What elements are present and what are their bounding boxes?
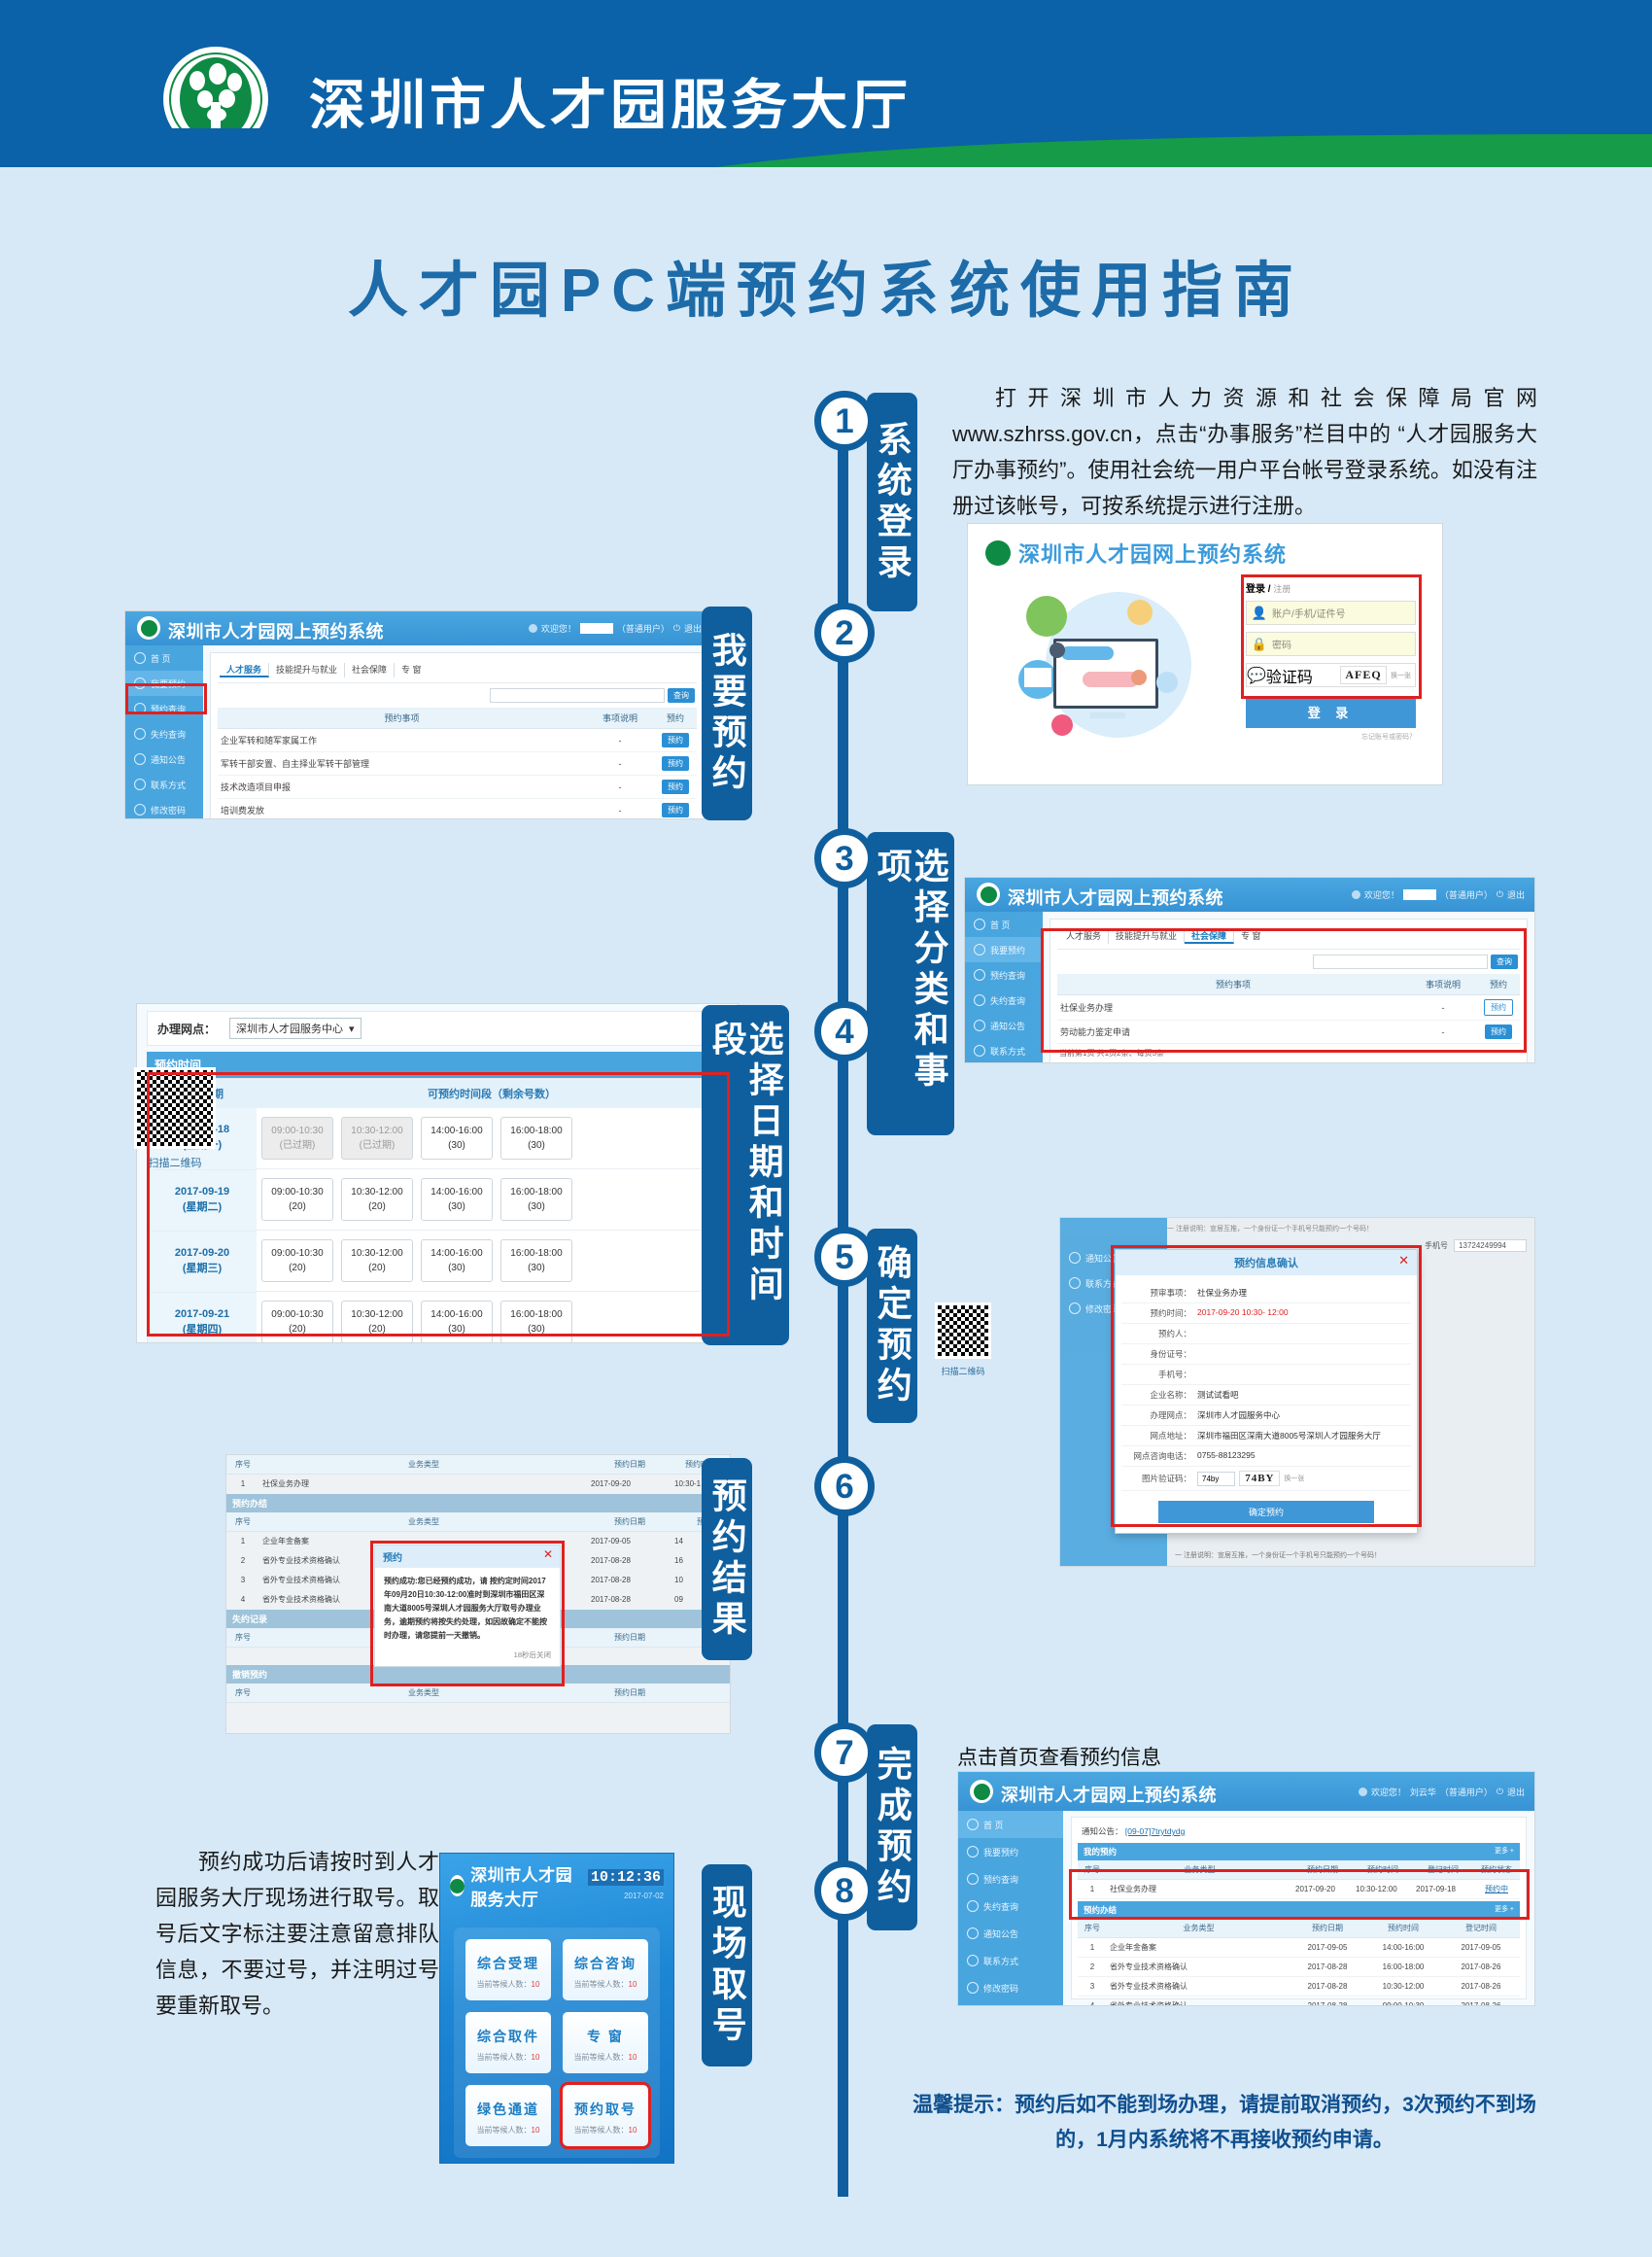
pager: 当前第1页 共1页2条、每页5条 bbox=[1057, 1044, 1520, 1062]
user-icon bbox=[529, 624, 537, 633]
field-label: 身份证号： bbox=[1121, 1348, 1197, 1360]
step7-content: 通知公告： [09-07]7trytdydg 我的预约 更多 + 序号业务类型预… bbox=[1063, 1811, 1534, 2005]
step7-caption: 点击首页查看预约信息 bbox=[957, 1742, 1161, 1771]
col-date: 预约日期 bbox=[588, 1684, 671, 1703]
dialog-field: 手机号： bbox=[1121, 1365, 1411, 1385]
login-captcha-image[interactable]: AFEQ bbox=[1340, 666, 1387, 684]
step-label-6: 预约结果 bbox=[702, 1458, 752, 1660]
row-desc: - bbox=[586, 799, 654, 820]
col-reg: 登记时间 bbox=[1413, 1860, 1473, 1880]
close-icon[interactable]: ✕ bbox=[543, 1547, 553, 1561]
step-node-3: 3 bbox=[814, 828, 875, 888]
bell-icon bbox=[974, 1020, 985, 1031]
dialog-field: 办理网点：深圳市人才园服务中心 bbox=[1121, 1406, 1411, 1426]
search-row: 查询 bbox=[1057, 950, 1520, 974]
qr-code bbox=[935, 1302, 991, 1359]
welcome-text: 欢迎您！ bbox=[1371, 1786, 1406, 1798]
timeslot-row: 2017-09-18(星期一) 09:00-10:30(已过期) 10:30-1… bbox=[148, 1108, 727, 1169]
bell-icon bbox=[1069, 1252, 1081, 1264]
notice-row: 通知公告： [09-07]7trytdydg bbox=[1078, 1823, 1520, 1843]
more-link[interactable]: 更多 + bbox=[1495, 1846, 1514, 1858]
sidebar-item-my-booking[interactable]: 我要预约 bbox=[125, 671, 203, 696]
step6-tables: 序号业务类型预约日期预约时间 1社保业务办理2017-09-2010:30-1 bbox=[226, 1455, 730, 1494]
timeslot-table: 预约日期 可预约时间段（剩余号数） 2017-09-18(星期一) 09:00-… bbox=[148, 1079, 727, 1343]
phone-icon bbox=[134, 779, 146, 790]
field-label: 企业名称： bbox=[1121, 1389, 1197, 1401]
sidebar-item-booking-query[interactable]: 预约查询 bbox=[965, 962, 1043, 988]
timeslot-row: 2017-09-21(星期四) 09:00-10:30(20) 10:30-12… bbox=[148, 1292, 727, 1343]
row-desc: - bbox=[586, 776, 654, 799]
col-status: 预约状态 bbox=[1473, 1860, 1520, 1880]
col-index: 序号 bbox=[226, 1455, 259, 1475]
home-icon bbox=[967, 1819, 979, 1830]
step-label-2: 我要预约 bbox=[702, 607, 752, 820]
table-row: 社保业务办理-预约 bbox=[1057, 995, 1520, 1021]
qr-caption: 扫描二维码 bbox=[929, 1365, 997, 1377]
bottom-warning-tip: 温馨提示：预约后如不能到场办理，请提前取消预约，3次预约不到场的，1月内系统将不… bbox=[904, 2088, 1545, 2157]
tab-social-security[interactable]: 社会保障 bbox=[345, 663, 395, 677]
shield-icon: 💬 bbox=[1247, 666, 1266, 685]
captcha-refresh[interactable]: 换一张 bbox=[1280, 1474, 1304, 1483]
bottom-left-text: 预约成功后请按时到人才园服务大厅现场进行取号。取号后文字标注要注意留意排队信息，… bbox=[155, 1845, 439, 2025]
kiosk-date: 2017-07-02 bbox=[624, 1892, 664, 1900]
system-logo bbox=[970, 1780, 993, 1803]
kiosk-cell-comprehensive-pickup[interactable]: 综合取件 当前等候人数：10 bbox=[465, 2012, 551, 2073]
lock-icon bbox=[1069, 1302, 1081, 1314]
booking-items-table: 预约事项 事项说明 预约 企业军转和随军家属工作-预约 军转干部安置、自主择业军… bbox=[218, 708, 697, 819]
user-role: （普通用户） bbox=[1440, 1786, 1493, 1798]
cell-wait: 当前等候人数：10 bbox=[469, 2052, 547, 2063]
slot-button[interactable]: 16:00-18:00(30) bbox=[500, 1117, 572, 1160]
sidebar-item-contact[interactable]: 联系方式 bbox=[125, 772, 203, 797]
timeslot-section-title: 预约时间 bbox=[147, 1052, 728, 1078]
col-index: 序号 bbox=[226, 1512, 259, 1532]
row-desc: - bbox=[1409, 995, 1477, 1021]
status-badge[interactable]: 预约中 bbox=[1473, 1880, 1520, 1899]
popup-title-bar: 预约 ✕ bbox=[375, 1545, 560, 1568]
sidebar-item-booking-query[interactable]: 预约查询 bbox=[125, 696, 203, 721]
login-captcha-row[interactable]: 💬 验证码 AFEQ 换一张 bbox=[1246, 663, 1416, 687]
sidebar-label: 失约查询 bbox=[990, 994, 1025, 1007]
slot-button: 10:30-12:00(已过期) bbox=[341, 1117, 413, 1160]
system-site-title: 深圳市人才园网上预约系统 bbox=[1008, 885, 1223, 910]
close-icon[interactable]: ✕ bbox=[1398, 1253, 1409, 1268]
book-button[interactable]: 预约 bbox=[662, 803, 689, 817]
step-label-1: 系统登录 bbox=[867, 393, 917, 611]
col-date: 预约日期 bbox=[1291, 1919, 1364, 1938]
col-time: 预约时间 bbox=[1364, 1919, 1442, 1938]
system-sidebar: 首 页 我要预约 预约查询 失约查询 通知公告 联系方式 修改密码 bbox=[125, 645, 203, 818]
notice-link[interactable]: [09-07]7trytdydg bbox=[1125, 1826, 1185, 1836]
sidebar-label: 我要预约 bbox=[990, 944, 1025, 956]
sidebar-item-home[interactable]: 首 页 bbox=[958, 1811, 1063, 1838]
kiosk-cell-green-channel[interactable]: 绿色通道 当前等候人数：10 bbox=[465, 2085, 551, 2146]
cell-wait: 当前等候人数：10 bbox=[567, 2125, 644, 2135]
step3-screenshot: 深圳市人才园网上预约系统 欢迎您！ （普通用户） ⏻ 退出 首 页 我要预约 预… bbox=[964, 877, 1535, 1063]
sidebar-item-home[interactable]: 首 页 bbox=[965, 912, 1043, 937]
cell-title: 专 窗 bbox=[567, 2027, 644, 2046]
dialog-field: 预审事项：社保业务办理 bbox=[1121, 1283, 1411, 1303]
book-button[interactable]: 预约 bbox=[1485, 1024, 1512, 1039]
tab-talent-service[interactable]: 人才服务 bbox=[1059, 929, 1109, 944]
step5-screenshot: 通知公告 联系方式 修改密码 一 注册说明：宣居互推，一个身份证一个手机号只能预… bbox=[1059, 1217, 1535, 1567]
tab-talent-service[interactable]: 人才服务 bbox=[220, 663, 269, 677]
home-icon bbox=[974, 919, 985, 930]
sidebar-item-missed-query[interactable]: 失约查询 bbox=[125, 721, 203, 747]
category-tabs: 人才服务 技能提升与就业 社会保障 专 窗 bbox=[1057, 926, 1520, 950]
my-booking-table: 序号业务类型预约日期预约时间登记时间预约状态 1社保业务办理2017-09-20… bbox=[1078, 1860, 1520, 1899]
system-sidebar: 首 页 我要预约 预约查询 失约查询 通知公告 联系方式 bbox=[965, 912, 1043, 1062]
row-item: 军转干部安置、自主择业军转干部管理 bbox=[218, 752, 586, 776]
login-tab-register[interactable]: 注册 bbox=[1273, 584, 1291, 594]
booking-items-table: 预约事项 事项说明 预约 社保业务办理-预约 劳动能力鉴定申请-预约 bbox=[1057, 974, 1520, 1044]
timeline-spine bbox=[838, 418, 848, 2197]
sidebar-item-notice[interactable]: 通知公告 bbox=[958, 1920, 1063, 1947]
row-item: 企业军转和随军家属工作 bbox=[218, 729, 586, 752]
col-type: 业务类型 bbox=[259, 1684, 588, 1703]
login-illustration bbox=[985, 578, 1219, 763]
slot-button[interactable]: 16:00-18:00(30) bbox=[500, 1239, 572, 1282]
sidebar-item-change-password[interactable]: 修改密码 bbox=[958, 1974, 1063, 2001]
kiosk-service-grid: 综合受理 当前等候人数：10 综合咨询 当前等候人数：10 综合取件 当前等候人… bbox=[454, 1927, 660, 2158]
user-name: 刘云华 bbox=[1410, 1786, 1436, 1798]
finished-header: 预约办结 更多 + bbox=[1078, 1901, 1520, 1919]
power-icon: ⏻ bbox=[673, 623, 680, 634]
field-label: 手机号： bbox=[1121, 1369, 1197, 1380]
login-tab-login[interactable]: 登录 / bbox=[1246, 584, 1271, 595]
sidebar-label: 修改密码 bbox=[151, 804, 186, 816]
table-row: 军转干部安置、自主择业军转干部管理-预约 bbox=[218, 752, 697, 776]
tab-skills-employment[interactable]: 技能提升与就业 bbox=[1109, 929, 1185, 944]
chevron-down-icon: ▾ bbox=[349, 1023, 355, 1035]
col-index: 序号 bbox=[1078, 1860, 1107, 1880]
bell-icon bbox=[967, 1927, 979, 1939]
book-button[interactable]: 预约 bbox=[662, 780, 689, 794]
welcome-text: 欢迎您！ bbox=[541, 622, 576, 635]
sidebar-item-notice[interactable]: 通知公告 bbox=[965, 1013, 1043, 1038]
dialog-title-bar: 预约信息确认 ✕ bbox=[1116, 1250, 1417, 1275]
sidebar-item-notice[interactable]: 通知公告 bbox=[125, 747, 203, 772]
sidebar-label: 联系方式 bbox=[151, 779, 186, 791]
timeslot-row: 2017-09-20(星期三) 09:00-10:30(20) 10:30-12… bbox=[148, 1231, 727, 1292]
site-select[interactable]: 深圳市人才园服务中心 ▾ bbox=[229, 1018, 361, 1039]
search-row: 查询 bbox=[218, 683, 697, 708]
login-captcha-refresh[interactable]: 换一张 bbox=[1387, 671, 1415, 680]
dialog-field: 企业名称：测试试看吧 bbox=[1121, 1385, 1411, 1406]
slot-button: 09:00-10:30(已过期) bbox=[261, 1117, 333, 1160]
notice-label: 通知公告： bbox=[1082, 1826, 1123, 1836]
login-form: 登录 / 注册 👤 账户/手机/证件号 🔒 密码 💬 验证码 AFEQ 换一张 … bbox=[1246, 580, 1416, 742]
row-date: 2017-09-21(星期四) bbox=[148, 1292, 257, 1343]
col-index: 序号 bbox=[1078, 1919, 1107, 1938]
kiosk-time: 10:12:36 bbox=[588, 1869, 664, 1886]
user-icon: 👤 bbox=[1247, 606, 1272, 621]
slot-button[interactable]: 09:00-10:30(20) bbox=[261, 1239, 333, 1282]
cancel-icon bbox=[967, 1900, 979, 1912]
cell-title: 综合受理 bbox=[469, 1954, 547, 1973]
site-selector-row: 办理网点： 深圳市人才园服务中心 ▾ bbox=[147, 1011, 728, 1046]
book-button[interactable]: 预约 bbox=[662, 733, 689, 747]
power-icon: ⏻ bbox=[1497, 1787, 1503, 1797]
slot-button[interactable]: 09:00-10:30(20) bbox=[261, 1301, 333, 1343]
system-logo bbox=[137, 616, 160, 640]
login-password-placeholder: 密码 bbox=[1272, 637, 1291, 651]
field-value: 0755-88123295 bbox=[1197, 1450, 1256, 1462]
site-value: 深圳市人才园服务中心 bbox=[236, 1021, 343, 1036]
search-input[interactable] bbox=[1313, 955, 1488, 969]
user-icon bbox=[1359, 1788, 1367, 1796]
search-input[interactable] bbox=[490, 688, 665, 703]
login-submit-button[interactable]: 登 录 bbox=[1246, 696, 1416, 728]
search-button[interactable]: 查询 bbox=[1491, 955, 1518, 969]
table-row: 1企业年金备案2017-09-0514:00-16:002017-09-05 bbox=[1078, 1938, 1520, 1958]
sidebar-item-missed-query[interactable]: 失约查询 bbox=[965, 988, 1043, 1013]
search-icon bbox=[967, 1873, 979, 1885]
search-icon bbox=[974, 969, 985, 981]
field-label: 网点地址： bbox=[1121, 1430, 1197, 1441]
confirm-booking-button[interactable]: 确定预约 bbox=[1158, 1501, 1374, 1523]
step-node-1: 1 bbox=[814, 391, 875, 451]
dialog-field: 网点地址：深圳市福田区深南大道8005号深圳人才园服务大厅 bbox=[1121, 1426, 1411, 1446]
col-type: 业务类型 bbox=[259, 1455, 588, 1475]
slot-button[interactable]: 16:00-18:00(30) bbox=[500, 1301, 572, 1343]
tab-social-security[interactable]: 社会保障 bbox=[1185, 929, 1234, 944]
page-header: 深圳市人才园服务大厅 bbox=[0, 0, 1652, 167]
section-title: 撤销预约 bbox=[226, 1665, 730, 1684]
col-index: 序号 bbox=[226, 1684, 259, 1703]
field-value: 深圳市福田区深南大道8005号深圳人才园服务大厅 bbox=[1197, 1430, 1381, 1441]
user-name-field bbox=[580, 623, 613, 634]
row-date: 2017-09-19(星期二) bbox=[148, 1169, 257, 1231]
col-index: 序号 bbox=[226, 1628, 259, 1648]
step-node-8: 8 bbox=[814, 1860, 875, 1921]
system-topbar: 深圳市人才园网上预约系统 欢迎您！ 刘云华 （普通用户） ⏻ 退出 bbox=[958, 1772, 1534, 1811]
login-account-placeholder: 账户/手机/证件号 bbox=[1272, 606, 1346, 620]
col-type: 业务类型 bbox=[259, 1512, 588, 1532]
system-topbar: 深圳市人才园网上预约系统 欢迎您！ （普通用户） ⏻ 退出 bbox=[125, 611, 711, 645]
kiosk-header: 深圳市人才园服务大厅 10:12:36 2017-07-02 bbox=[440, 1854, 673, 1912]
step5-footer-note: 一 注册说明：宣居互推，一个身份证一个手机号只能预约一个号码！ bbox=[1060, 1550, 1534, 1560]
kiosk-clock: 10:12:36 2017-07-02 bbox=[588, 1868, 664, 1903]
more-link[interactable]: 更多 + bbox=[1495, 1904, 1514, 1916]
slot-button[interactable]: 14:00-16:00(30) bbox=[421, 1239, 493, 1282]
sidebar-label: 失约查询 bbox=[983, 1900, 1018, 1913]
step-label-4: 选择日期和时间段 bbox=[702, 1005, 789, 1345]
header-green-wave bbox=[0, 128, 1652, 167]
popup-title: 预约 bbox=[383, 1553, 402, 1564]
system-logo bbox=[977, 883, 1000, 906]
dialog-captcha-row: 图片验证码： 74by 74BY 换一张 bbox=[1121, 1467, 1411, 1491]
phone-icon bbox=[974, 1045, 985, 1057]
bell-icon bbox=[134, 753, 146, 765]
field-label: 预约时间： bbox=[1121, 1307, 1197, 1319]
kiosk-cell-special-window[interactable]: 专 窗 当前等候人数：10 bbox=[563, 2012, 648, 2073]
col-desc: 事项说明 bbox=[586, 708, 654, 729]
col-reg: 登记时间 bbox=[1442, 1919, 1520, 1938]
sidebar-item-missed-query[interactable]: 失约查询 bbox=[958, 1892, 1063, 1920]
lock-icon bbox=[967, 1982, 979, 1994]
slot-button[interactable]: 14:00-16:00(30) bbox=[421, 1117, 493, 1160]
kiosk-cell-comprehensive-acceptance[interactable]: 综合受理 当前等候人数：10 bbox=[465, 1939, 551, 2000]
sidebar-label: 首 页 bbox=[983, 1819, 1004, 1831]
sidebar-label: 失约查询 bbox=[151, 728, 186, 741]
cell-wait: 当前等候人数：10 bbox=[567, 1979, 644, 1990]
popup-timer: 18秒后关闭 bbox=[375, 1649, 560, 1666]
field-value: 2017-09-20 10:30- 12:00 bbox=[1197, 1307, 1289, 1319]
sidebar-item-change-password[interactable]: 修改密码 bbox=[125, 797, 203, 819]
field-value: 社保业务办理 bbox=[1197, 1287, 1247, 1299]
row-slots: 09:00-10:30(20) 10:30-12:00(20) 14:00-16… bbox=[257, 1292, 727, 1343]
success-popup: 预约 ✕ 预约成功:您已经预约成功，请 按约定时间2017年09月20日10:3… bbox=[374, 1545, 561, 1667]
lock-icon: 🔒 bbox=[1247, 637, 1272, 652]
hall-logo bbox=[450, 1875, 465, 1896]
hall-title: 深圳市人才园服务大厅 bbox=[470, 1861, 588, 1910]
kiosk-screenshot: 深圳市人才园服务大厅 10:12:36 2017-07-02 综合受理 当前等候… bbox=[439, 1853, 674, 2164]
col-date: 预约日期 bbox=[588, 1512, 671, 1532]
field-label: 办理网点： bbox=[1121, 1409, 1197, 1421]
table-row: 4省外专业技术资格确认2017-08-2809:00-10:302017-08-… bbox=[1078, 1997, 1520, 2007]
pager-text: 当前第1页 共1页2条、每页5条 bbox=[1059, 1048, 1164, 1059]
book-button[interactable]: 预约 bbox=[1484, 999, 1513, 1016]
step1-description: 打开深圳市人力资源和社会保障局官网www.szhrss.gov.cn，点击“办事… bbox=[952, 381, 1537, 525]
sidebar-item-contact[interactable]: 联系方式 bbox=[965, 1038, 1043, 1063]
row-date: 2017-09-20(星期三) bbox=[148, 1231, 257, 1292]
cancel-icon bbox=[134, 728, 146, 740]
slot-button[interactable]: 10:30-12:00(20) bbox=[341, 1239, 413, 1282]
qr-caption: 扫描二维码 bbox=[134, 1155, 216, 1170]
sidebar-item-my-booking[interactable]: 我要预约 bbox=[965, 937, 1043, 962]
tab-special-window[interactable]: 专 窗 bbox=[395, 663, 429, 677]
system-user-area: 欢迎您！ 刘云华 （普通用户） ⏻ 退出 bbox=[1359, 1786, 1525, 1798]
row-desc: - bbox=[1409, 1021, 1477, 1044]
book-button[interactable]: 预约 bbox=[662, 756, 689, 771]
system-sidebar: 首 页 我要预约 预约查询 失约查询 通知公告 联系方式 修改密码 bbox=[958, 1811, 1063, 2005]
dialog-field: 预约人： bbox=[1121, 1324, 1411, 1344]
power-icon: ⏻ bbox=[1497, 889, 1503, 900]
login-account-field[interactable]: 👤 账户/手机/证件号 bbox=[1246, 601, 1416, 625]
system-site-title: 深圳市人才园网上预约系统 bbox=[168, 618, 384, 643]
login-forgot-link[interactable]: 忘记账号或密码？ bbox=[1246, 732, 1416, 742]
user-icon bbox=[1352, 890, 1360, 899]
kiosk-cell-comprehensive-consult[interactable]: 综合咨询 当前等候人数：10 bbox=[563, 1939, 648, 2000]
captcha-input[interactable]: 74by bbox=[1197, 1472, 1235, 1486]
sidebar-item-booking-query[interactable]: 预约查询 bbox=[958, 1865, 1063, 1892]
popup-message: 预约成功:您已经预约成功，请 按约定时间2017年09月20日10:30-12:… bbox=[375, 1568, 560, 1649]
logout-link[interactable]: 退出 bbox=[1507, 888, 1525, 901]
search-icon bbox=[134, 703, 146, 714]
row-slots: 09:00-10:30(20) 10:30-12:00(20) 14:00-16… bbox=[257, 1169, 727, 1231]
captcha-image[interactable]: 74BY bbox=[1239, 1471, 1280, 1486]
tab-special-window[interactable]: 专 窗 bbox=[1234, 929, 1268, 944]
login-screenshot: 深圳市人才园网上预约系统 登录 / 注册 👤 账户/手机/证件号 🔒 密码 💬 bbox=[967, 523, 1443, 785]
sidebar-label: 我要预约 bbox=[151, 677, 186, 690]
login-site-title: 深圳市人才园网上预约系统 bbox=[1018, 538, 1287, 569]
col-date: 预约日期 bbox=[588, 1455, 671, 1475]
slot-button[interactable]: 10:30-12:00(20) bbox=[341, 1301, 413, 1343]
table-row: 1社保业务办理2017-09-2010:30-12:002017-09-18预约… bbox=[1078, 1880, 1520, 1899]
home-icon bbox=[134, 652, 146, 664]
col-time: 预约时间 bbox=[1353, 1860, 1413, 1880]
logout-link[interactable]: 退出 bbox=[684, 622, 702, 635]
sidebar-label: 联系方式 bbox=[983, 1955, 1018, 1967]
slot-button[interactable]: 09:00-10:30(20) bbox=[261, 1178, 333, 1221]
category-tabs: 人才服务 技能提升与就业 社会保障 专 窗 bbox=[218, 660, 697, 683]
system-topbar: 深圳市人才园网上预约系统 欢迎您！ （普通用户） ⏻ 退出 bbox=[965, 878, 1534, 912]
cell-title: 预约取号 bbox=[567, 2100, 644, 2119]
cell-wait: 当前等候人数：10 bbox=[469, 2125, 547, 2135]
tab-skills-employment[interactable]: 技能提升与就业 bbox=[269, 663, 345, 677]
col-type: 业务类型 bbox=[1107, 1919, 1291, 1938]
search-button[interactable]: 查询 bbox=[668, 688, 695, 703]
dialog-title: 预约信息确认 bbox=[1234, 1258, 1298, 1269]
clock-icon bbox=[974, 944, 985, 955]
sidebar-label: 联系方式 bbox=[990, 1045, 1025, 1058]
sidebar-label: 首 页 bbox=[151, 652, 171, 665]
slot-button[interactable]: 14:00-16:00(30) bbox=[421, 1178, 493, 1221]
sidebar-item-contact[interactable]: 联系方式 bbox=[958, 1947, 1063, 1974]
step-node-6: 6 bbox=[814, 1456, 875, 1516]
kiosk-cell-booking-ticket[interactable]: 预约取号 当前等候人数：10 bbox=[563, 2085, 648, 2146]
step-label-8: 现场取号 bbox=[702, 1864, 752, 2066]
clock-icon bbox=[967, 1846, 979, 1858]
phone-label: 手机号 bbox=[1425, 1240, 1448, 1251]
step5-bg-note: 一 注册说明：宣居互推，一个身份证一个手机号只能预约一个号码！ bbox=[1167, 1224, 1529, 1233]
confirm-dialog: 预约信息确认 ✕ 预审事项：社保业务办理 预约时间：2017-09-20 10:… bbox=[1115, 1249, 1418, 1534]
step-node-2: 2 bbox=[814, 603, 875, 663]
site-label: 办理网点： bbox=[157, 1021, 216, 1037]
sidebar-label: 预约查询 bbox=[983, 1873, 1018, 1886]
slot-button[interactable]: 10:30-12:00(20) bbox=[341, 1178, 413, 1221]
field-label: 图片验证码： bbox=[1121, 1473, 1197, 1484]
table-row: 劳动能力鉴定申请-预约 bbox=[1057, 1021, 1520, 1044]
user-name-field bbox=[1403, 889, 1436, 900]
field-label: 预约人： bbox=[1121, 1328, 1197, 1339]
page-title: 人才园PC端预约系统使用指南 bbox=[0, 241, 1652, 329]
dialog-field: 网点咨询电话：0755-88123295 bbox=[1121, 1446, 1411, 1467]
sidebar-label: 预约查询 bbox=[151, 703, 186, 715]
step-node-7: 7 bbox=[814, 1722, 875, 1783]
step6-screenshot: 序号业务类型预约日期预约时间 1社保业务办理2017-09-2010:30-1 … bbox=[225, 1454, 731, 1734]
col-date: 预约日期 bbox=[1292, 1860, 1353, 1880]
col-item: 预约事项 bbox=[218, 708, 586, 729]
sidebar-label: 通知公告 bbox=[983, 1927, 1018, 1940]
cell-wait: 当前等候人数：10 bbox=[469, 1979, 547, 1990]
sidebar-label: 修改密码 bbox=[983, 1982, 1018, 1995]
slot-button[interactable]: 16:00-18:00(30) bbox=[500, 1178, 572, 1221]
step-node-5: 5 bbox=[814, 1227, 875, 1287]
logout-link[interactable]: 退出 bbox=[1507, 1786, 1525, 1798]
row-item: 技术改造项目申报 bbox=[218, 776, 586, 799]
user-role: （普通用户） bbox=[1440, 888, 1493, 901]
sidebar-label: 通知公告 bbox=[990, 1020, 1025, 1032]
phone-value[interactable]: 13724249994 bbox=[1454, 1239, 1527, 1252]
step3-content: 人才服务 技能提升与就业 社会保障 专 窗 查询 预约事项 事项说明 预约 社保… bbox=[1043, 912, 1534, 1062]
step-label-3: 选择分类和事项 bbox=[867, 832, 954, 1135]
qr-code bbox=[134, 1067, 216, 1149]
cell-title: 绿色通道 bbox=[469, 2100, 547, 2119]
login-captcha-label: 验证码 bbox=[1266, 664, 1336, 687]
sidebar-item-home[interactable]: 首 页 bbox=[125, 645, 203, 671]
login-password-field[interactable]: 🔒 密码 bbox=[1246, 632, 1416, 656]
sidebar-item-my-booking[interactable]: 我要预约 bbox=[958, 1838, 1063, 1865]
lock-icon bbox=[134, 804, 146, 816]
clock-icon bbox=[134, 677, 146, 689]
cell-title: 综合咨询 bbox=[567, 1954, 644, 1973]
row-desc: - bbox=[586, 752, 654, 776]
slot-button[interactable]: 14:00-16:00(30) bbox=[421, 1301, 493, 1343]
cell-title: 综合取件 bbox=[469, 2027, 547, 2046]
row-slots: 09:00-10:30(已过期) 10:30-12:00(已过期) 14:00-… bbox=[257, 1108, 727, 1169]
